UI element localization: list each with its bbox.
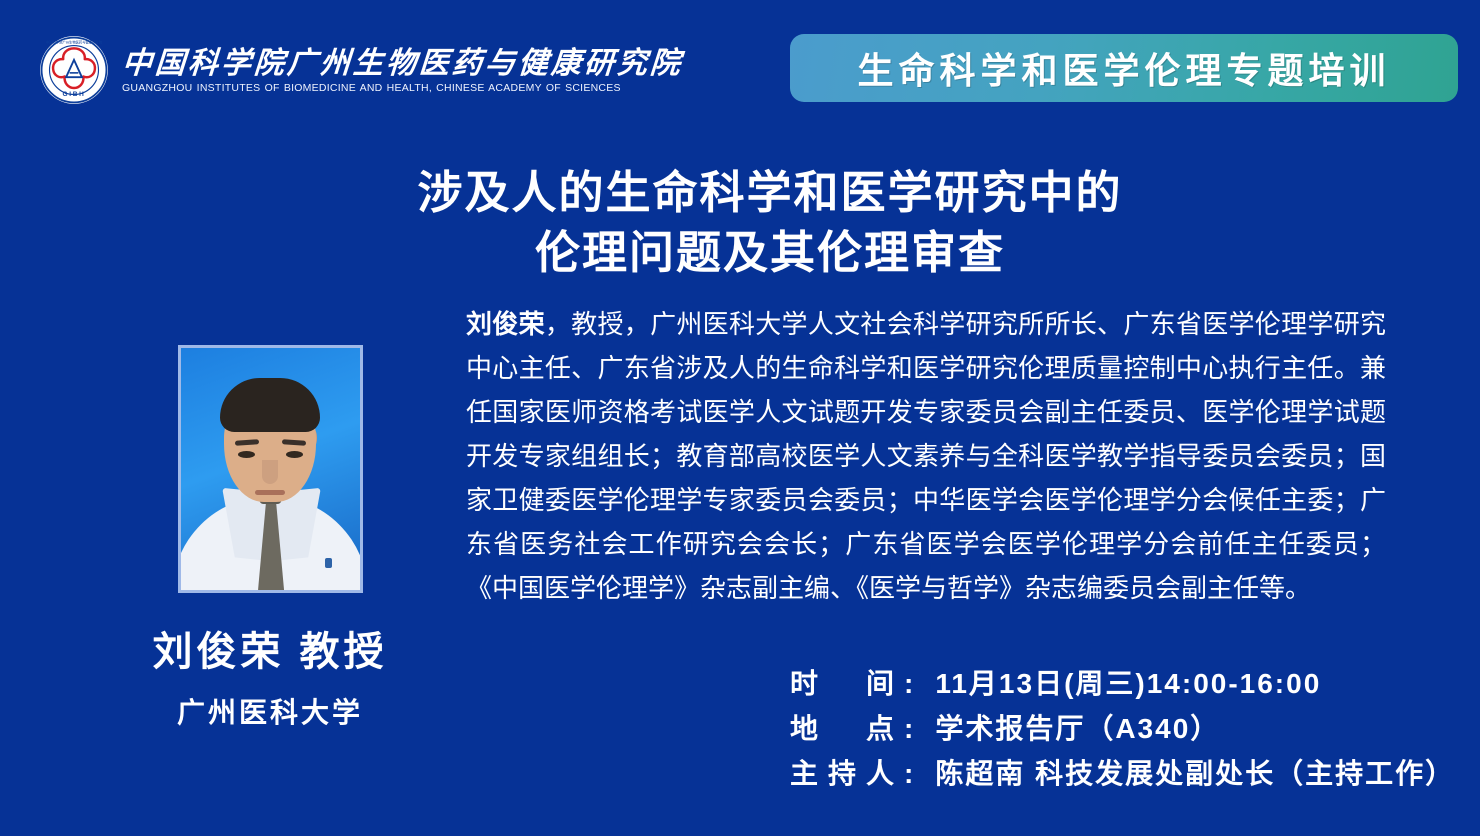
detail-label-venue: 地 点: bbox=[790, 711, 923, 747]
detail-row-host: 主持人: 陈超南 科技发展处副处长（主持工作） bbox=[790, 756, 1450, 792]
speaker-photo bbox=[178, 345, 363, 593]
detail-label-time: 时 间: bbox=[790, 666, 923, 702]
svg-text:GIBH: GIBH bbox=[62, 91, 85, 98]
detail-value-time: 11月13日(周三)14:00-16:00 bbox=[935, 666, 1321, 702]
gibh-institute-seal-icon: GIBH 中国科学院广州生物医药与健康研究院 bbox=[38, 34, 110, 106]
detail-value-venue: 学术报告厅（A340） bbox=[935, 711, 1220, 747]
speaker-affiliation: 广州医科大学 bbox=[60, 691, 480, 731]
seminar-poster-slide: GIBH 中国科学院广州生物医药与健康研究院 中国科学院广州生物医药与健康研究院… bbox=[0, 0, 1480, 836]
poster-header: GIBH 中国科学院广州生物医药与健康研究院 中国科学院广州生物医药与健康研究院… bbox=[0, 0, 1480, 130]
institute-name-cn: 中国科学院广州生物医药与健康研究院 bbox=[121, 48, 684, 80]
training-series-label: 生命科学和医学伦理专题培训 bbox=[857, 42, 1390, 94]
institute-name-en: GUANGZHOU INSTITUTES OF BIOMEDICINE AND … bbox=[122, 82, 683, 94]
svg-text:中国科学院广州生物医药与健康研究院: 中国科学院广州生物医药与健康研究院 bbox=[46, 40, 103, 45]
speaker-panel: 刘俊荣 教授 广州医科大学 bbox=[60, 345, 480, 731]
event-details: 时 间: 11月13日(周三)14:00-16:00 地 点: 学术报告厅（A3… bbox=[790, 666, 1450, 801]
institute-logo: GIBH 中国科学院广州生物医药与健康研究院 中国科学院广州生物医药与健康研究院… bbox=[38, 34, 683, 106]
lecture-title-line-2: 伦理问题及其伦理审查 bbox=[340, 223, 1200, 283]
detail-row-time: 时 间: 11月13日(周三)14:00-16:00 bbox=[790, 666, 1450, 702]
detail-row-venue: 地 点: 学术报告厅（A340） bbox=[790, 711, 1450, 747]
speaker-name: 刘俊荣 教授 bbox=[60, 619, 480, 677]
lecture-title: 涉及人的生命科学和医学研究中的 伦理问题及其伦理审查 bbox=[340, 163, 1200, 283]
speaker-biography: 刘俊荣，教授，广州医科大学人文社会科学研究所所长、广东省医学伦理学研究中心主任、… bbox=[466, 302, 1386, 610]
detail-label-host: 主持人: bbox=[790, 756, 923, 792]
detail-value-host: 陈超南 科技发展处副处长（主持工作） bbox=[935, 756, 1455, 792]
speaker-biography-lead: 刘俊荣 bbox=[466, 309, 545, 339]
training-series-ribbon: 生命科学和医学伦理专题培训 bbox=[790, 34, 1458, 102]
lecture-title-line-1: 涉及人的生命科学和医学研究中的 bbox=[340, 163, 1200, 223]
speaker-biography-body: ，教授，广州医科大学人文社会科学研究所所长、广东省医学伦理学研究中心主任、广东省… bbox=[466, 309, 1386, 603]
